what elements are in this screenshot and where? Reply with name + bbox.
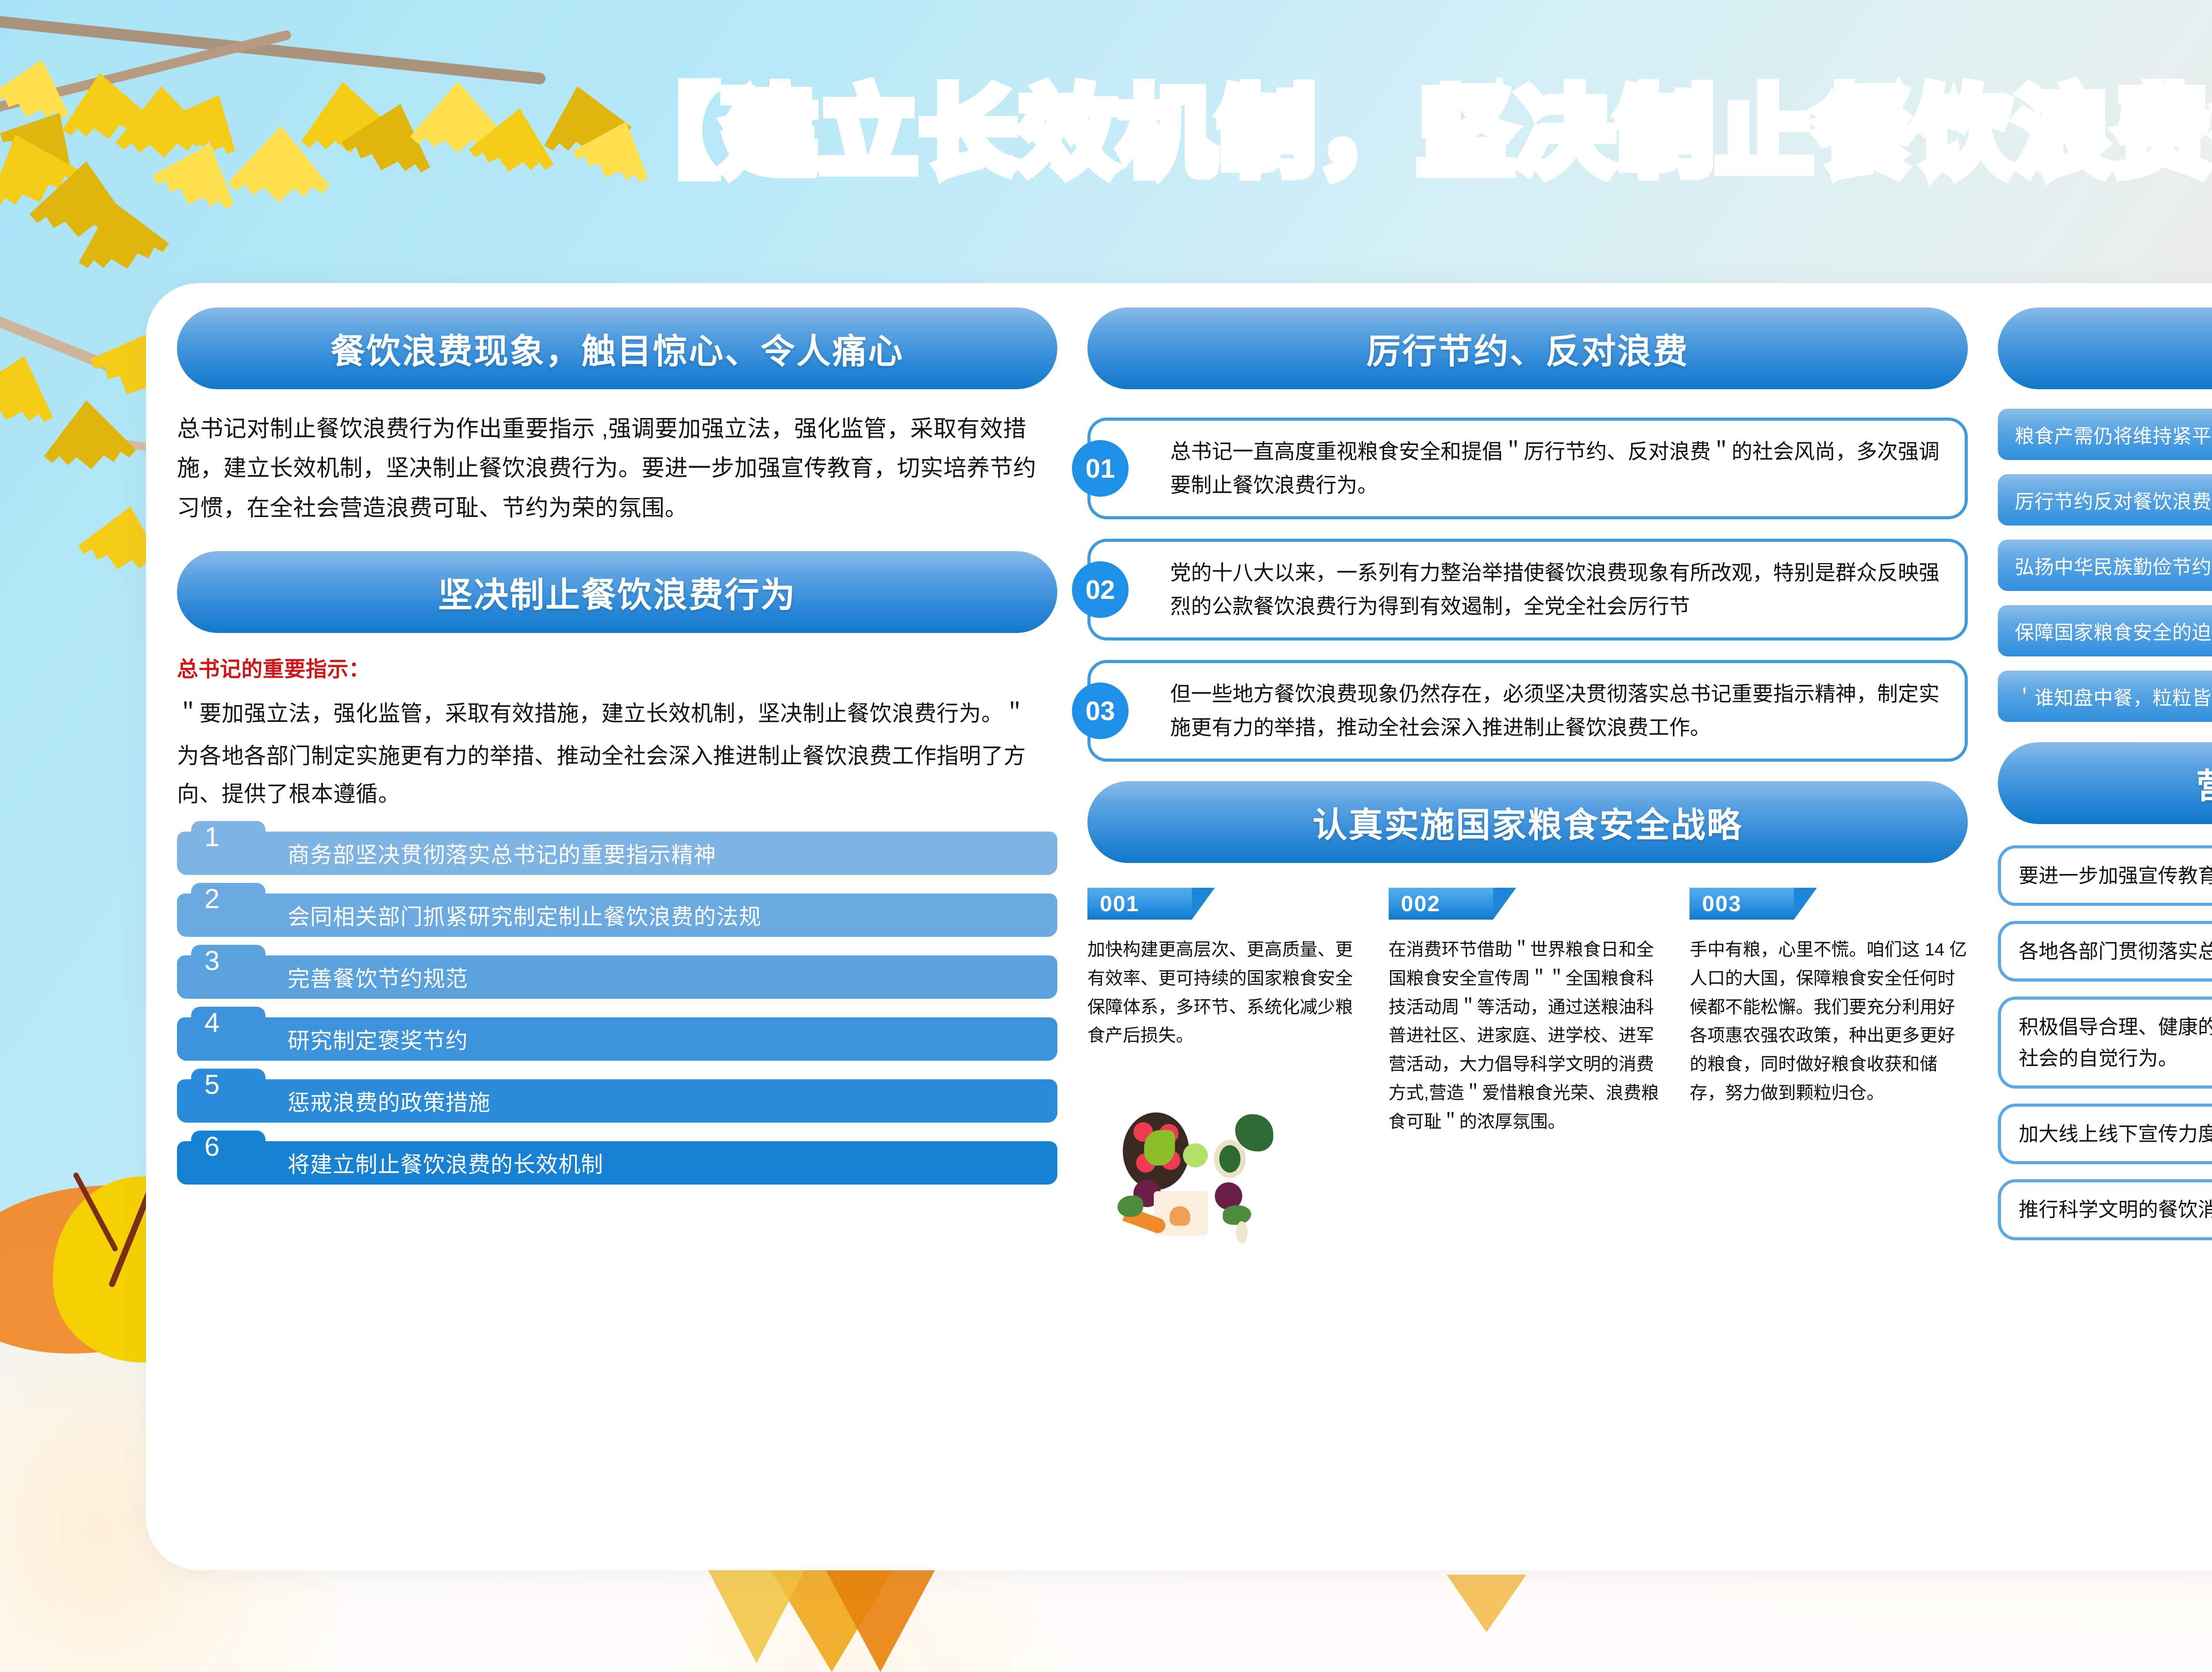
atmosphere-box[interactable]: 加大线上线下宣传力度，引导广大市民群众从自我做起，节俭用餐、文明用餐。: [1998, 1104, 2212, 1164]
numbered-row-label: 将建立制止餐饮浪费的长效机制: [288, 1147, 603, 1179]
strategy-text: 加快构建更高层次、更高质量、更有效率、更可持续的国家粮食安全保障体系，多环节、系…: [1087, 936, 1366, 1050]
middle-tri-columns: 001加快构建更高层次、更高质量、更有效率、更可持续的国家粮食安全保障体系，多环…: [1087, 888, 1968, 1136]
card-text: 党的十八大以来，一系列有力整治举措使餐饮浪费现象有所改观，特别是群众反映强烈的公…: [1170, 556, 1947, 623]
numbered-row-5[interactable]: 5惩戒浪费的政策措施: [177, 1079, 1057, 1123]
bottom-left-stem: [73, 1172, 119, 1252]
card-badge: 03: [1072, 683, 1129, 739]
card-badge: 01: [1072, 440, 1129, 497]
numbered-row-label: 会同相关部门抓紧研究制定制止餐饮浪费的法规: [288, 899, 761, 931]
left-header-1: 餐饮浪费现象，触目惊心、令人痛心: [177, 307, 1057, 389]
left-red-subtitle: 总书记的重要指示：: [177, 652, 1057, 688]
middle-number-cards: 01总书记一直高度重视粮食安全和提倡＂厉行节约、反对浪费＂的社会风尚，多次强调要…: [1087, 418, 1968, 762]
strategy-tag: 001: [1087, 888, 1192, 920]
numbered-row-1[interactable]: 1商务部坚决贯彻落实总书记的重要指示精神: [177, 832, 1057, 875]
numbered-row-4[interactable]: 4研究制定褒奖节约: [177, 1017, 1057, 1061]
crisis-bar[interactable]: 粮食产需仍将维持紧平衡态势，确保国家粮食安全一刻也不能放松。: [1998, 409, 2212, 460]
crisis-bar[interactable]: 弘扬中华民族勤俭节约传统美德的重要举措: [1998, 540, 2212, 591]
herb-sprig: [1118, 1196, 1143, 1217]
crisis-bar[interactable]: 保障国家粮食安全的迫切需要: [1998, 605, 2212, 656]
atmosphere-box[interactable]: 积极倡导合理、健康的饮食文化，大力破除讲排场、比阔气等不良风气，促进反对餐饮浪费…: [1998, 997, 2212, 1089]
left-paragraph-2: ＂要加强立法，强化监管，采取有效措施，建立长效机制，坚决制止餐饮浪费行为。＂: [177, 694, 1057, 732]
cucumber-slice: [1183, 1143, 1208, 1167]
numbered-row-index: 1: [204, 824, 219, 851]
left-paragraph-3: 为各地各部门制定实施更有力的举措、推动全社会深入推进制止餐饮浪费工作指明了方向、…: [177, 737, 1057, 813]
info-card-03: 03但一些地方餐饮浪费现象仍然存在，必须坚决贯彻落实总书记重要指示精神，制定实施…: [1087, 660, 1968, 762]
strategy-column-001: 001加快构建更高层次、更高质量、更有效率、更可持续的国家粮食安全保障体系，多环…: [1087, 888, 1366, 1136]
bottom-triangle: [1447, 1575, 1526, 1632]
numbered-row-label: 惩戒浪费的政策措施: [288, 1085, 491, 1117]
middle-header-2: 认真实施国家粮食安全战略: [1087, 781, 1968, 863]
right-box-list: 要进一步加强宣传教育，切实培养节约习惯，在全社会营造浪费可耻、节约为荣的氛围。各…: [1998, 845, 2212, 1240]
herb-sprig: [1223, 1205, 1251, 1225]
ginkgo-leaf: [38, 397, 140, 483]
atmosphere-box[interactable]: 推行科学文明的餐饮消费模式，需要充分发挥好餐饮企业的作用。: [1998, 1179, 2212, 1240]
left-paragraph-1: 总书记对制止餐饮浪费行为作出重要指示 ,强调要加强立法，强化监管，采取有效措施，…: [177, 410, 1057, 528]
crisis-bar[interactable]: 厉行节约反对餐饮浪费: [1998, 474, 2212, 525]
middle-header-1: 厉行节约、反对浪费: [1087, 307, 1968, 389]
card-text: 但一些地方餐饮浪费现象仍然存在，必须坚决贯彻落实总书记重要指示精神，制定实施更有…: [1170, 677, 1947, 744]
ginkgo-leaf: [0, 343, 69, 443]
numbered-row-6[interactable]: 6将建立制止餐饮浪费的长效机制: [177, 1141, 1057, 1185]
soup-content: [1219, 1145, 1240, 1173]
strategy-text: 在消费环节借助＂世界粮食日和全国粮食安全宣传周＂＂全国粮食科技活动周＂等活动，通…: [1389, 936, 1667, 1136]
strategy-column-003: 003手中有粮，心里不慌。咱们这 14 亿人口的大国，保障粮食安全任何时候都不能…: [1690, 888, 1968, 1136]
poster-title: 【建立长效机制，坚决制止餐饮浪费行为】 【建立长效机制，坚决制止餐饮浪费行为】: [0, 82, 2212, 184]
numbered-row-label: 研究制定褒奖节约: [288, 1023, 468, 1055]
numbered-row-label: 完善餐饮节约规范: [288, 961, 468, 993]
right-header-1: 对粮食安全始终要有危机意识: [1998, 307, 2212, 389]
left-column: 餐饮浪费现象，触目惊心、令人痛心 总书记对制止餐饮浪费行为作出重要指示 ,强调要…: [177, 307, 1057, 1553]
card-text: 总书记一直高度重视粮食安全和提倡＂厉行节约、反对浪费＂的社会风尚，多次强调要制止…: [1170, 435, 1947, 502]
numbered-row-3[interactable]: 3完善餐饮节约规范: [177, 955, 1057, 999]
numbered-row-index: 6: [204, 1133, 219, 1161]
left-header-2: 坚决制止餐饮浪费行为: [177, 551, 1057, 633]
ginkgo-branch: [0, 13, 546, 85]
strategy-text: 手中有粮，心里不慌。咱们这 14 亿人口的大国，保障粮食安全任何时候都不能松懈。…: [1690, 936, 1968, 1108]
numbered-row-index: 5: [204, 1071, 219, 1099]
poster-title-text: 【建立长效机制，坚决制止餐饮浪费行为】: [622, 80, 2212, 186]
info-card-02: 02党的十八大以来，一系列有力整治举措使餐饮浪费现象有所改观，特别是群众反映强烈…: [1087, 539, 1968, 640]
numbered-row-2[interactable]: 2会同相关部门抓紧研究制定制止餐饮浪费的法规: [177, 894, 1057, 937]
atmosphere-box[interactable]: 要进一步加强宣传教育，切实培养节约习惯，在全社会营造浪费可耻、节约为荣的氛围。: [1998, 845, 2212, 906]
strategy-tag: 002: [1389, 888, 1493, 920]
strategy-column-002: 002在消费环节借助＂世界粮食日和全国粮食安全宣传周＂＂全国粮食科技活动周＂等活…: [1389, 888, 1667, 1136]
main-card: 餐饮浪费现象，触目惊心、令人痛心 总书记对制止餐饮浪费行为作出重要指示 ,强调要…: [146, 283, 2212, 1570]
info-card-01: 01总书记一直高度重视粮食安全和提倡＂厉行节约、反对浪费＂的社会风尚，多次强调要…: [1087, 418, 1968, 519]
right-column: 对粮食安全始终要有危机意识 粮食产需仍将维持紧平衡态势，确保国家粮食安全一刻也不…: [1998, 307, 2212, 1553]
vegetable-illustration: [1096, 1112, 1282, 1245]
numbered-row-label: 商务部坚决贯彻落实总书记的重要指示精神: [288, 837, 716, 869]
mushroom: [1170, 1206, 1190, 1226]
left-numbered-list: 1商务部坚决贯彻落实总书记的重要指示精神2会同相关部门抓紧研究制定制止餐饮浪费的…: [177, 832, 1057, 1185]
card-badge: 02: [1072, 561, 1129, 618]
numbered-row-index: 3: [204, 947, 219, 975]
right-header-2: 营造浪费可耻、节约为荣的氛围: [1998, 742, 2212, 824]
atmosphere-box[interactable]: 各地各部门贯彻落实总书记重要指示精神，加大宣传教育力度: [1998, 921, 2212, 982]
right-bar-list: 粮食产需仍将维持紧平衡态势，确保国家粮食安全一刻也不能放松。厉行节约反对餐饮浪费…: [1998, 409, 2212, 722]
wooden-spoon: [1236, 1221, 1248, 1243]
ginkgo-leaf: [66, 191, 177, 290]
lettuce-leaf: [1144, 1130, 1175, 1166]
middle-column: 厉行节约、反对浪费 01总书记一直高度重视粮食安全和提倡＂厉行节约、反对浪费＂的…: [1087, 307, 1968, 1553]
numbered-row-index: 2: [204, 886, 219, 913]
numbered-row-index: 4: [204, 1009, 219, 1037]
strategy-tag: 003: [1690, 888, 1794, 920]
crisis-bar[interactable]: ＇谁知盘中餐，粒粒皆辛苦。＇一粥一饭，当思来之不易。: [1998, 671, 2212, 722]
